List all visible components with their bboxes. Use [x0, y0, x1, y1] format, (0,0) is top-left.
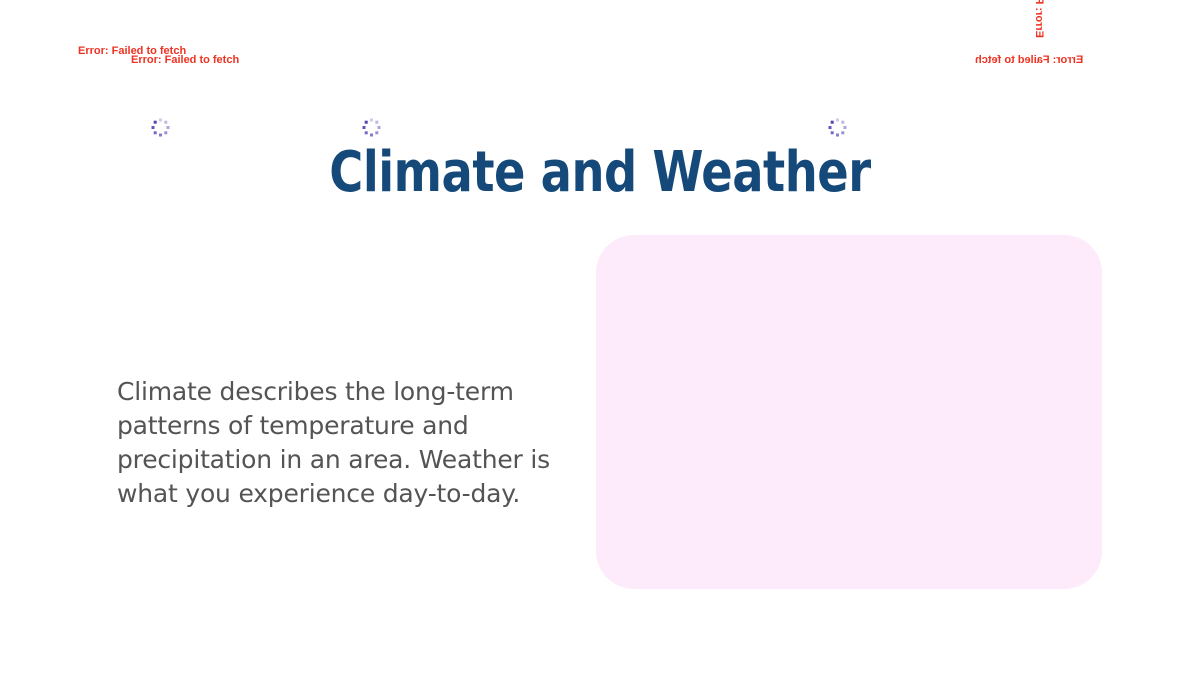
error-message-rotated: Error: Failed to fetch: [1032, 0, 1045, 38]
media-placeholder-panel: [596, 235, 1102, 589]
error-message: Error: Failed to fetch: [131, 54, 239, 67]
loading-spinner-icon: [826, 116, 848, 138]
page-title: Climate and Weather: [48, 142, 1152, 204]
loading-spinner-icon: [360, 116, 382, 138]
error-message-mirrored: Error: Failed to fetch: [975, 54, 1083, 67]
body-paragraph: Climate describes the long-term patterns…: [117, 375, 587, 511]
loading-spinner-icon: [149, 116, 171, 138]
slide-canvas: Error: Failed to fetch Error: Failed to …: [0, 0, 1200, 675]
